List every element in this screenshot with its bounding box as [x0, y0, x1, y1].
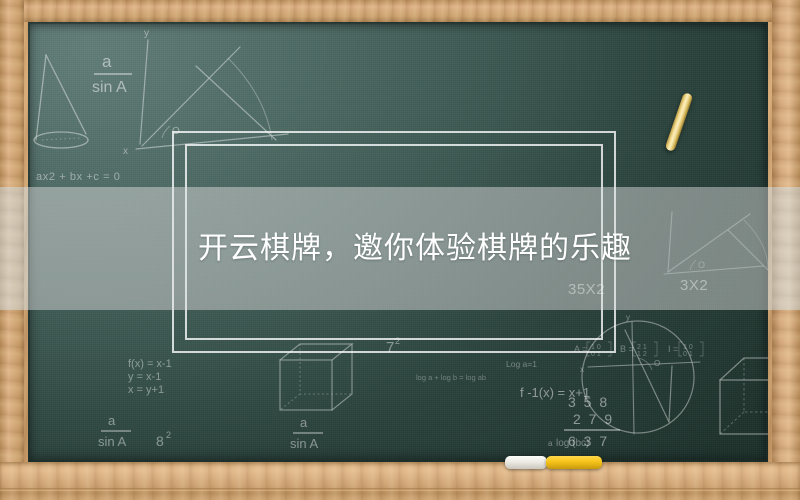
tray-lip	[0, 488, 800, 491]
chalk-sum: 6 3 7	[568, 433, 609, 449]
chalk-eight: 8	[156, 433, 164, 449]
banner-overlay: 开云棋牌，邀你体验棋牌的乐趣	[0, 187, 800, 310]
chalk-matrix-i: I =	[668, 344, 678, 354]
chalk-sin-a-denominator-2: sin A	[98, 434, 127, 449]
svg-text:2 1: 2 1	[637, 344, 647, 351]
chalk-addend-1: 3 5 8	[568, 394, 609, 410]
svg-text:1 2: 1 2	[637, 351, 647, 358]
cube-diagram-right	[720, 358, 768, 434]
chalk-a-numerator: a	[102, 52, 112, 71]
chalk-axis-y-label: y	[144, 28, 149, 39]
svg-text:1 0: 1 0	[683, 344, 693, 351]
chalk-axis-x-right: x	[580, 365, 584, 374]
chalkboard-banner: a sin A ax2 + bx +c = 0 y x O f(x) = x-	[0, 0, 800, 500]
eight-squared: 8 2	[156, 430, 171, 449]
tray-yellow-chalk-icon	[546, 456, 602, 469]
banner-title: 开云棋牌，邀你体验棋牌的乐趣	[198, 231, 632, 267]
cone-diagram	[34, 55, 88, 148]
tray-white-chalk-icon	[505, 456, 547, 469]
chalk-log-a-equals-one: Log a=1	[506, 359, 537, 369]
chalk-log-a: a	[548, 439, 553, 448]
cube-diagram	[280, 344, 352, 410]
law-of-sines-bottom-left: a sin A	[98, 413, 131, 449]
column-addition: 3 5 8 2 7 9 6 3 7	[564, 394, 620, 449]
chalk-y-equation: y = x-1	[128, 371, 161, 383]
chalk-axis-x-label: x	[123, 146, 128, 157]
chalk-axis-y-right: y	[626, 313, 630, 322]
wood-frame-top	[0, 0, 800, 22]
chalk-tray	[0, 462, 800, 500]
law-of-sines-top-left: a sin A	[92, 52, 132, 96]
law-of-sines-center-bottom: a sin A	[290, 415, 323, 451]
chalk-eight-exponent: 2	[166, 430, 171, 440]
chalk-quadratic-formula: ax2 + bx +c = 0	[36, 171, 121, 183]
chalk-sin-a-denominator: sin A	[92, 79, 127, 96]
chalk-a-numerator-2: a	[108, 413, 116, 428]
svg-text:0 1: 0 1	[683, 351, 693, 358]
chalk-x-equation: x = y+1	[128, 384, 164, 396]
chalk-a-numerator-3: a	[300, 415, 308, 430]
chalk-fx: f(x) = x-1	[128, 358, 172, 370]
chalk-angle-right: O	[654, 359, 660, 368]
chalk-log-rule: log a + log b = log ab	[416, 373, 486, 382]
chalk-sin-a-denominator-3: sin A	[290, 436, 319, 451]
chalk-matrix-b: B =	[620, 344, 634, 354]
function-equations: f(x) = x-1 y = x-1 x = y+1	[128, 358, 172, 396]
